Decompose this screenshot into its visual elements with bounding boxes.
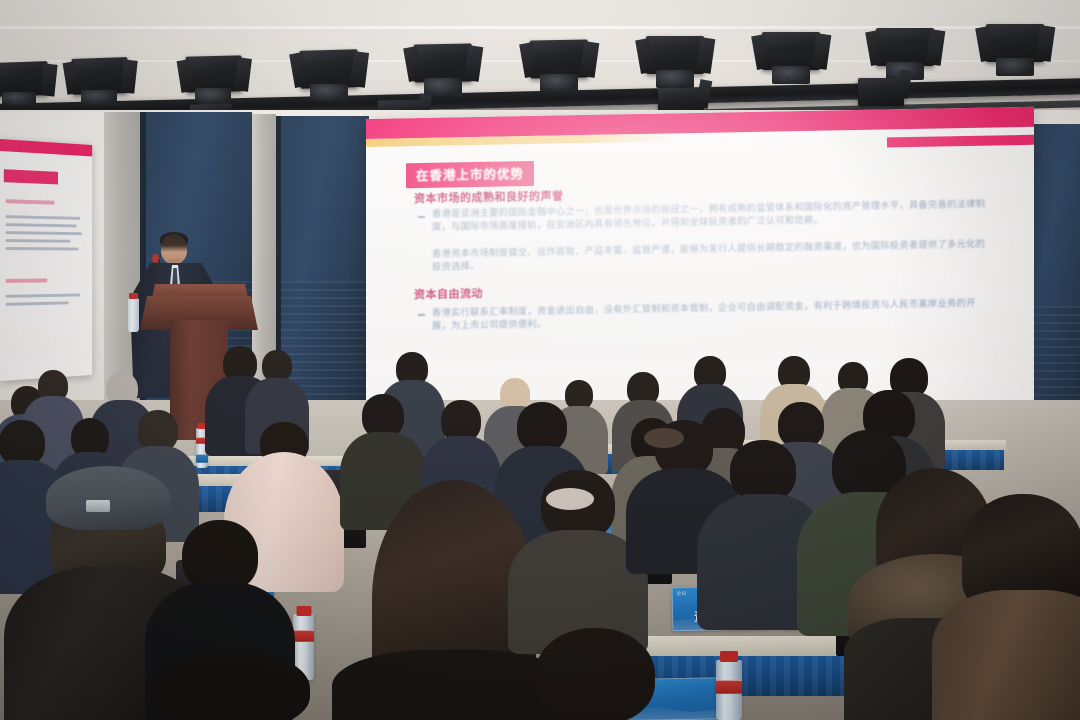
brown-jacket [932,590,1080,720]
slide-section-heading-1: 资本市场的成熟和良好的声誉 [414,187,564,206]
side-screen-text-line [6,301,69,305]
bottle-cap [296,606,311,616]
microphone-head [152,254,159,263]
side-screen-text-line [6,247,78,250]
side-screen-title-block [4,169,58,184]
slide-bullet-3: 香港实行联系汇率制度，资金进出自由，没有外汇管制和资本管制，企业可自由调配资金，… [432,297,992,332]
bullet-marker-2 [418,314,425,316]
bullet-marker [418,216,425,218]
audience-member [520,628,670,720]
podium-water-bottle [128,298,139,332]
side-screen-text-line [6,223,76,227]
side-projection-screen [0,139,92,381]
bottle-label [716,680,742,694]
side-screen-text-line [6,239,71,243]
side-screen-text-line [6,293,80,297]
bottle-label [293,630,314,642]
conference-room-photo: 在香港上市的优势 资本市场的成熟和良好的声誉 香港是亚洲主要的国际金融中心之一，… [0,0,1080,720]
cap-buckle [86,500,110,512]
slide-bullet-2: 香港资本市场制度健全、运作高效、产品丰富、监管严谨，能够为发行人提供长期稳定的融… [432,238,992,273]
slide-title: 在香港上市的优势 [406,161,534,188]
audience-member [952,494,1080,720]
bottle-cap [720,651,738,662]
side-screen-text-line [6,231,82,235]
side-screen-subheading-2 [6,279,47,283]
water-bottle [716,660,742,720]
name-card-header-logo: 论坛 [677,591,687,597]
slide-title-text: 在香港上市的优势 [416,167,524,183]
slide-section-heading-2: 资本自由流动 [414,285,483,302]
side-screen-text-line [6,215,80,220]
grey-flat-cap [46,466,170,530]
hair-bun [644,428,684,448]
slide-right-band [887,135,1034,148]
bottle-label-blue [196,454,208,463]
audience-member [140,650,320,720]
hair-scrunchie [546,488,594,510]
audience-member [518,470,638,650]
side-screen-subheading [6,199,55,204]
